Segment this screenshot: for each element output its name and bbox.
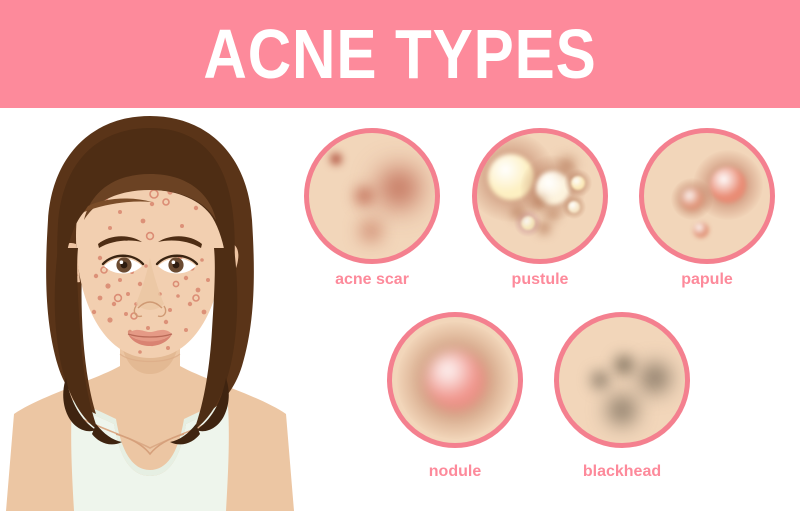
lesion-spot [329,152,343,166]
lesion-circle-blackhead[interactable] [554,312,690,448]
lesion-spot [613,354,635,376]
lesion-circle-acne-scar[interactable] [304,128,440,264]
lesion-label-nodule: nodule [387,464,523,480]
lesion-spot [521,216,535,230]
lesion-spot [638,361,672,395]
woman-illustration [0,108,300,511]
header-banner: ACNE TYPES [0,0,800,108]
lesion-spot [360,220,382,242]
infographic-canvas: ACNE TYPES [0,0,800,511]
lesion-spot [558,156,576,174]
page-title: ACNE TYPES [56,0,744,108]
lesion-spot [377,166,421,210]
lesion-label-papule: papule [639,272,775,288]
lesion-circle-pustule[interactable] [472,128,608,264]
lesion-spot [571,176,585,190]
lesion-spot [537,221,551,235]
lesion-spot [710,167,746,203]
lesion-label-pustule: pustule [472,272,608,288]
lesion-spot [568,201,580,213]
lesion-spot [425,350,485,410]
lesion-spot [681,188,703,210]
lesion-spot [354,186,374,206]
lesion-spot [590,370,610,390]
lesion-circle-nodule[interactable] [387,312,523,448]
lesion-spot [693,222,709,238]
lesion-spot [605,393,639,427]
lesion-spot [547,209,559,221]
lesion-label-blackhead: blackhead [554,464,690,480]
lesion-label-acne-scar: acne scar [304,272,440,288]
lesion-circle-papule[interactable] [639,128,775,264]
lesion-spot [511,206,525,220]
lesion-spot [532,195,546,209]
